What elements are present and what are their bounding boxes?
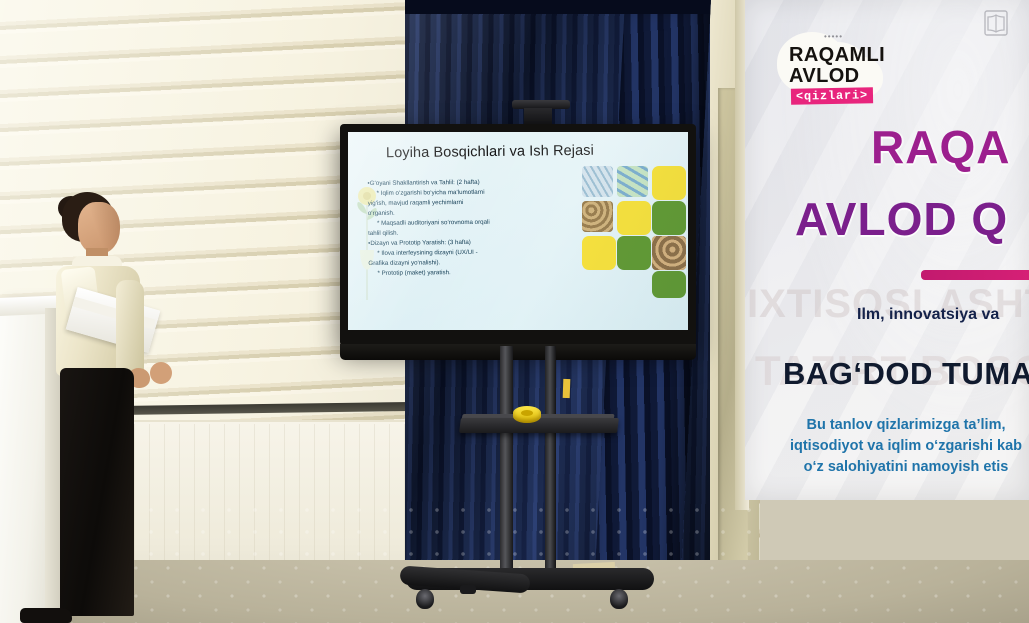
logo-line-1: RAQAMLI xyxy=(789,44,885,67)
photo-scene: IXTISOSLASHT TAZIRT BOSQ ••••• RAQAMLI A… xyxy=(0,0,1029,623)
banner-surface: IXTISOSLASHT TAZIRT BOSQ ••••• RAQAMLI A… xyxy=(745,0,1029,500)
banner-headline-2: AVLOD Q xyxy=(795,192,1008,246)
banner-paragraph: Bu tanlov qizlarimizga ta’lim, iqtisodiy… xyxy=(761,415,1029,478)
mosaic-cell-green-3 xyxy=(652,271,686,298)
mosaic-cell-green-2 xyxy=(617,236,651,270)
caster-wheel-right xyxy=(610,589,628,609)
logo-line-2: AVLOD xyxy=(789,65,860,88)
slide-title: Loyiha Bosqichlari va Ish Rejasi xyxy=(386,143,594,162)
banner-paragraph-line-3: o‘z salohiyatini namoyish etis xyxy=(761,457,1029,478)
mosaic-photo-2 xyxy=(617,166,648,197)
shoe xyxy=(20,608,72,623)
hand-right xyxy=(150,362,172,384)
cart-shelf xyxy=(459,418,619,433)
slide-line-10: * Prototip (maket) yaratish. xyxy=(368,267,560,279)
banner-district-title: BAG‘DOD TUMAN xyxy=(783,356,1029,392)
sticky-note xyxy=(563,379,571,398)
logo-dots: ••••• xyxy=(824,32,843,41)
caster-wheel-left xyxy=(416,589,434,609)
mosaic-photo-4 xyxy=(652,236,686,270)
cart-post-right xyxy=(545,346,556,574)
event-banner: IXTISOSLASHT TAZIRT BOSQ ••••• RAQAMLI A… xyxy=(735,0,1029,510)
mosaic-cell-yellow-3 xyxy=(582,236,616,270)
cart-post-left xyxy=(500,346,513,574)
face-shading xyxy=(78,202,120,254)
arm xyxy=(116,280,144,376)
cart-foot-center xyxy=(460,585,476,594)
curtain-rail xyxy=(405,0,710,14)
slide-mosaic-graphic xyxy=(582,166,686,298)
banner-subtitle: Ilm, innovatsiya va xyxy=(857,306,999,324)
mosaic-cell-yellow-2 xyxy=(617,201,651,235)
mosaic-photo-3 xyxy=(582,201,613,232)
mosaic-photo-1 xyxy=(582,166,613,197)
banner-headline-1: RAQA xyxy=(871,120,1010,174)
tape-roll xyxy=(513,406,541,423)
mosaic-cell-green-1 xyxy=(652,201,686,235)
banner-paragraph-line-1: Bu tanlov qizlarimizga ta’lim, xyxy=(761,415,1029,436)
headline1-text: RAQA xyxy=(871,121,1010,173)
headline2-text: AVLOD Q xyxy=(795,193,1008,245)
trousers xyxy=(60,368,134,616)
presentation-display: Loyiha Bosqichlari va Ish Rejasi •G‘oyan… xyxy=(340,124,696,346)
mosaic-cell-yellow-1 xyxy=(652,166,686,200)
display-screen: Loyiha Bosqichlari va Ish Rejasi •G‘oyan… xyxy=(348,132,688,330)
logo-tag: <qizlari> xyxy=(791,87,873,104)
banner-paragraph-line-2: iqtisodiyot va iqlim o‘zgarishi kab xyxy=(761,436,1029,457)
slide-body-text: •G‘oyani Shakllantirish va Tahlil: (2 ha… xyxy=(367,177,560,279)
book-emblem-icon xyxy=(983,8,1009,38)
presenter xyxy=(38,190,198,623)
banner-divider-rule xyxy=(921,270,1029,280)
raqamli-avlod-logo: ••••• RAQAMLI AVLOD <qizlari> xyxy=(777,26,897,108)
